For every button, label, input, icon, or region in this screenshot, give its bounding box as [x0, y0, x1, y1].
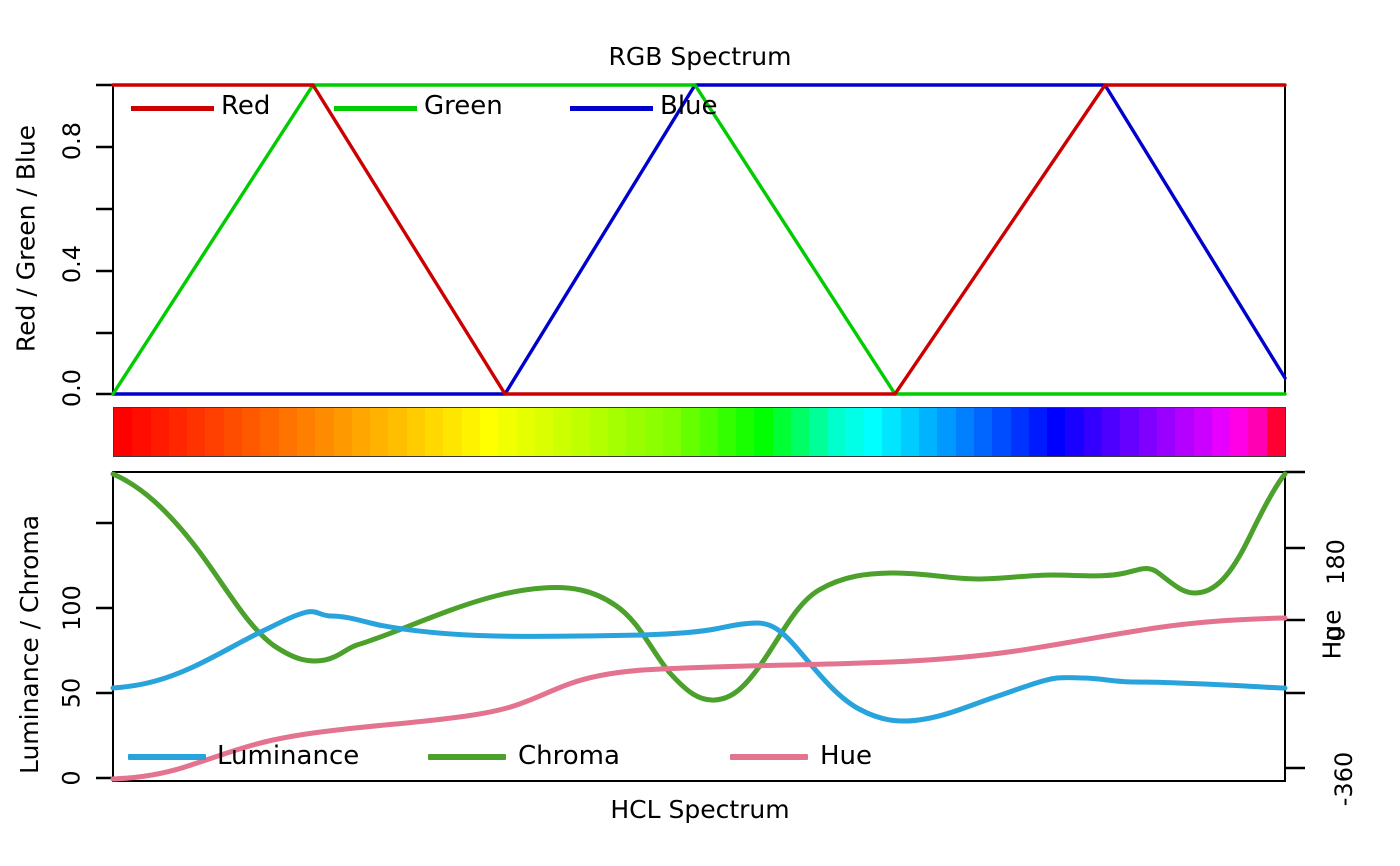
rgb-plot-frame: [113, 85, 1285, 394]
spectrum-band-17: [425, 408, 443, 456]
legend-swatch-hue: [730, 754, 808, 760]
spectrum-band-21: [498, 408, 516, 456]
spectrum-band-2: [151, 408, 169, 456]
spectrum-band-18: [443, 408, 461, 456]
spectrum-band-45: [937, 408, 955, 456]
hcl-y-ticks-right: [1285, 472, 1305, 768]
spectrum-band-39: [828, 408, 846, 456]
spectrum-band-29: [645, 408, 663, 456]
legend-swatch-red: [131, 106, 214, 111]
spectrum-band-25: [571, 408, 589, 456]
series-line-blue: [113, 85, 1285, 394]
spectrum-band-6: [224, 408, 242, 456]
spectrum-band-1: [132, 408, 150, 456]
hcl-ytick-right-180: 180: [1322, 527, 1350, 597]
hcl-panel-title: HCL Spectrum: [0, 795, 1400, 824]
legend-swatch-chroma: [428, 754, 506, 760]
spectrum-band-16: [407, 408, 425, 456]
spectrum-band-51: [1047, 408, 1065, 456]
series-line-red: [113, 85, 1285, 394]
spectrum-band-58: [1175, 408, 1193, 456]
legend-label-luminance: Luminance: [217, 741, 359, 771]
rgb-y-ticks: [96, 85, 113, 394]
spectrum-band-36: [773, 408, 791, 456]
spectrum-band-48: [992, 408, 1010, 456]
spectrum-band-47: [974, 408, 992, 456]
spectrum-band-32: [700, 408, 718, 456]
spectrum-band-30: [663, 408, 681, 456]
spectrum-band-3: [169, 408, 187, 456]
spectrum-band-59: [1194, 408, 1212, 456]
spectrum-band-8: [260, 408, 278, 456]
rgb-panel-title: RGB Spectrum: [0, 42, 1400, 71]
spectrum-band-37: [791, 408, 809, 456]
legend-swatch-green: [334, 106, 417, 111]
spectrum-band-24: [553, 408, 571, 456]
hcl-y-axis-label-left: Luminance / Chroma: [15, 502, 44, 787]
spectrum-band-54: [1102, 408, 1120, 456]
color-spectrum-bar: [113, 407, 1286, 457]
spectrum-band-35: [754, 408, 772, 456]
hcl-ytick-left-100: 100: [58, 573, 86, 643]
spectrum-band-61: [1230, 408, 1248, 456]
legend-label-hue: Hue: [820, 741, 872, 771]
spectrum-band-56: [1139, 408, 1157, 456]
spectrum-band-27: [608, 408, 626, 456]
spectrum-band-12: [334, 408, 352, 456]
legend-label-green: Green: [424, 91, 503, 121]
spectrum-band-23: [535, 408, 553, 456]
spectrum-band-14: [370, 408, 388, 456]
spectrum-band-20: [480, 408, 498, 456]
spectrum-band-15: [388, 408, 406, 456]
spectrum-band-33: [718, 408, 736, 456]
spectrum-band-44: [919, 408, 937, 456]
spectrum-band-43: [901, 408, 919, 456]
rgb-ytick-2: 0.8: [58, 111, 86, 171]
rgb-ytick-1: 0.4: [58, 234, 86, 294]
hcl-plot-svg: [95, 460, 1325, 786]
legend-label-chroma: Chroma: [518, 741, 620, 771]
spectrum-band-10: [297, 408, 315, 456]
spectrum-band-60: [1212, 408, 1230, 456]
spectrum-band-7: [242, 408, 260, 456]
spectrum-band-53: [1084, 408, 1102, 456]
legend-swatch-blue: [570, 106, 653, 111]
rgb-plot-area: [95, 78, 1305, 404]
spectrum-band-57: [1157, 408, 1175, 456]
spectrum-band-19: [462, 408, 480, 456]
spectrum-band-34: [736, 408, 754, 456]
hcl-y-ticks-left: [96, 523, 113, 778]
spectrum-band-31: [681, 408, 699, 456]
spectrum-band-55: [1120, 408, 1138, 456]
spectrum-band-50: [1029, 408, 1047, 456]
spectrum-band-42: [882, 408, 900, 456]
spectrum-band-4: [187, 408, 205, 456]
spectrum-band-22: [517, 408, 535, 456]
spectrum-band-49: [1011, 408, 1029, 456]
spectrum-band-40: [846, 408, 864, 456]
spectrum-band-62: [1248, 408, 1266, 456]
spectrum-band-13: [352, 408, 370, 456]
hcl-ytick-right-0: 0: [1323, 607, 1351, 662]
rgb-ytick-0: 0.0: [58, 358, 86, 418]
spectrum-band-0: [114, 408, 132, 456]
spectrum-band-11: [315, 408, 333, 456]
spectrum-band-28: [626, 408, 644, 456]
specplot-figure: RGB Spectrum Red / Green / Blue 0.0 0.4 …: [0, 0, 1400, 866]
spectrum-band-52: [1065, 408, 1083, 456]
legend-swatch-luminance: [128, 754, 206, 760]
legend-label-blue: Blue: [660, 91, 718, 121]
spectrum-band-26: [590, 408, 608, 456]
hcl-plot-area: [95, 460, 1325, 786]
spectrum-band-9: [279, 408, 297, 456]
spectrum-band-41: [864, 408, 882, 456]
spectrum-band-46: [956, 408, 974, 456]
hcl-ytick-left-50: 50: [58, 666, 86, 721]
spectrum-band-38: [809, 408, 827, 456]
series-line-green: [113, 85, 1285, 394]
spectrum-band-5: [205, 408, 223, 456]
legend-label-red: Red: [221, 91, 270, 121]
spectrum-band-63: [1267, 408, 1285, 456]
rgb-y-axis-label: Red / Green / Blue: [12, 109, 41, 369]
rgb-plot-svg: [95, 78, 1305, 404]
